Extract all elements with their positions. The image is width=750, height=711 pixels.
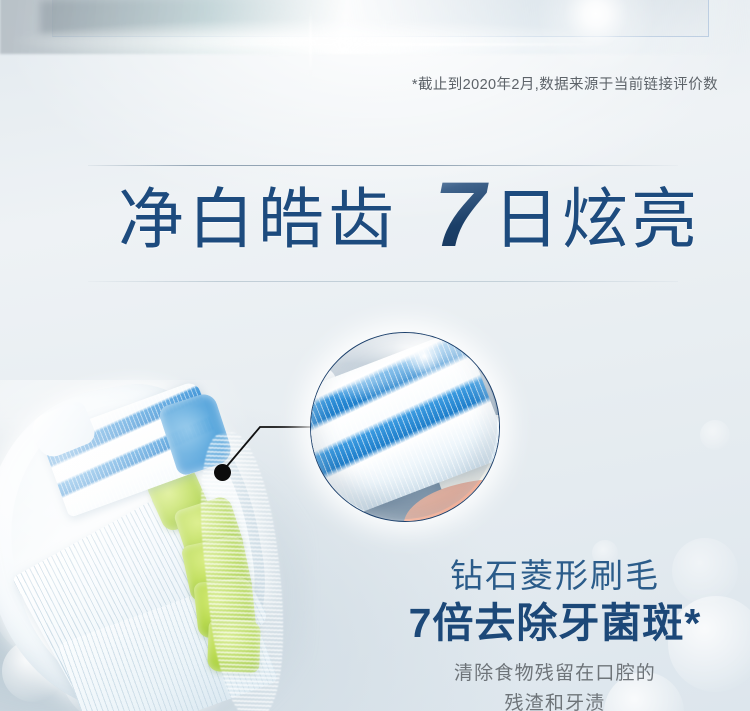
copy-heading: 钻石菱形刷毛 xyxy=(375,558,735,595)
promo-page: *截止到2020年2月,数据来源于当前链接评价数 净白皓齿 7 日炫亮 xyxy=(0,0,750,711)
headline-numeral-seven: 7 xyxy=(434,169,489,261)
copy-description-line-1: 清除食物残留在口腔的 xyxy=(375,660,735,688)
copy-description-line-2: 残渣和牙渍 xyxy=(375,690,735,711)
copy-subheading: 7倍去除牙菌斑* xyxy=(375,599,735,648)
headline-part-b: 日炫亮 xyxy=(493,186,700,252)
divider-line-bottom xyxy=(88,281,678,282)
flare-vertical-spike xyxy=(309,10,312,76)
copy-block: 钻石菱形刷毛 7倍去除牙菌斑* 清除食物残留在口腔的 残渣和牙渍 xyxy=(375,558,735,711)
divider-line-top xyxy=(88,165,678,166)
callout-dot-icon xyxy=(214,464,231,481)
magnifier-sparkle xyxy=(404,336,444,376)
disclaimer-text: *截止到2020年2月,数据来源于当前链接评价数 xyxy=(412,73,718,94)
headline-part-a: 净白皓齿 xyxy=(118,186,398,252)
headline: 净白皓齿 7 日炫亮 xyxy=(118,178,700,260)
bokeh-circle xyxy=(700,420,730,450)
flare-core-glow xyxy=(536,0,656,74)
